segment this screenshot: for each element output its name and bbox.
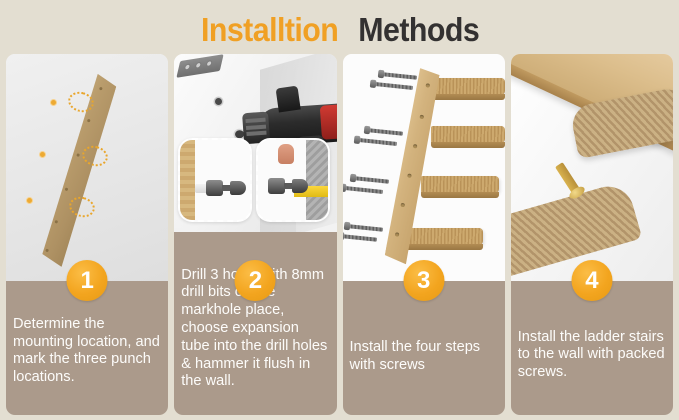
- step-caption-text-3: Install the four steps with screws: [350, 339, 498, 375]
- ladder-step-2-icon: [431, 126, 505, 143]
- step-card-3: 3 Install the four steps with screws: [343, 54, 505, 415]
- punch-dot-3-icon: [26, 197, 33, 204]
- step-badge-1: 1: [67, 260, 108, 301]
- step-card-2: 2 Drill 3 holes with 8mm drill bits on t…: [174, 54, 336, 415]
- step-badge-3: 3: [403, 260, 444, 301]
- step-caption-1: Determine the mounting location, and mar…: [6, 281, 168, 415]
- inset-hammer-tube-icon: [256, 138, 330, 222]
- step-card-4: 4 Install the ladder stairs to the wall …: [511, 54, 673, 415]
- step-badge-4: 4: [571, 260, 612, 301]
- step-caption-text-4: Install the ladder stairs to the wall wi…: [518, 329, 666, 382]
- step-caption-text-1: Determine the mounting location, and mar…: [13, 316, 161, 387]
- step-card-1: 1 Determine the mounting location, and m…: [6, 54, 168, 415]
- page-title: Installtion Methods: [0, 0, 679, 54]
- inset-expansion-tube-icon: [178, 138, 252, 222]
- step-photo-4: [511, 54, 673, 281]
- ladder-step-4-icon: [405, 228, 483, 245]
- installation-methods-poster: Installtion Methods: [0, 0, 679, 420]
- page-title-rest-word: Methods: [358, 13, 479, 46]
- punch-dot-1-icon: [50, 99, 57, 106]
- steps-row: 1 Determine the mounting location, and m…: [0, 54, 679, 420]
- step-photo-1: [6, 54, 168, 281]
- step-caption-4: Install the ladder stairs to the wall wi…: [511, 281, 673, 415]
- page-title-accent-word: Installtion: [201, 13, 338, 46]
- step-badge-2: 2: [235, 260, 276, 301]
- step-photo-2: [174, 54, 336, 232]
- ladder-step-3-icon: [421, 176, 499, 193]
- step-photo-3: [343, 54, 505, 281]
- punch-dot-2-icon: [39, 151, 46, 158]
- step-caption-3: Install the four steps with screws: [343, 281, 505, 415]
